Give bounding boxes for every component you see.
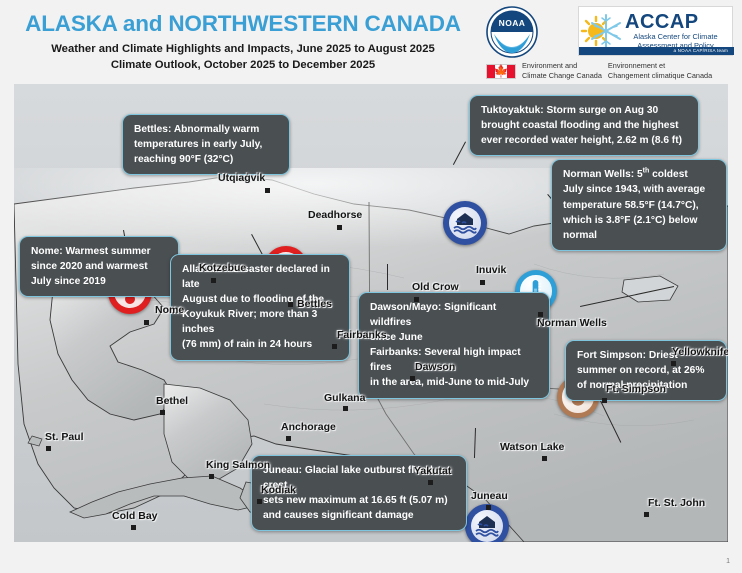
city-dot-icon: [428, 480, 433, 485]
regional-impacts-map: Bettles: Abnormally warm temperatures in…: [14, 84, 728, 542]
callout-line: brought coastal flooding and the highest: [481, 118, 688, 133]
city-label: Deadhorse: [308, 209, 362, 221]
eccc-en-line2: Climate Change Canada: [522, 71, 602, 81]
city-dot-icon: [644, 512, 649, 517]
city-dot-icon: [160, 410, 165, 415]
eccc-fr-line2: Changement climatique Canada: [608, 71, 712, 81]
callout-line: temperatures in early July,: [134, 137, 279, 152]
city-label: Anchorage: [281, 421, 336, 433]
callout-dawson-mayo-fairbanks[interactable]: Dawson/Mayo: Significant wildfires since…: [358, 292, 550, 399]
city-dot-icon: [542, 456, 547, 461]
callout-line: Nome: Warmest summer: [31, 244, 168, 259]
house-flood-icon: [452, 211, 478, 235]
city-dot-icon: [211, 278, 216, 283]
callout-line: summer on record, at 26%: [577, 363, 716, 378]
city-dot-icon: [288, 302, 293, 307]
accap-tagline-line1: Alaska Center for Climate: [625, 32, 732, 41]
city-label: Yakutat: [414, 465, 451, 477]
house-flood-icon: [474, 514, 500, 538]
city-label: Kotzebue: [199, 262, 246, 274]
callout-line: Bettles: Abnormally warm: [134, 122, 279, 137]
city-label: Cold Bay: [112, 510, 158, 522]
noaa-logo-text: NOAA: [499, 18, 526, 28]
callout-line: which is 3.8°F (2.1°C) below: [563, 213, 716, 228]
city-dot-icon: [265, 188, 270, 193]
accap-wordmark: ACCAP: [625, 12, 732, 32]
callout-line: and causes significant damage: [263, 508, 456, 523]
city-dot-icon: [131, 525, 136, 530]
city-label: Nome: [155, 304, 184, 316]
environment-canada-logo: 🍁 Environment and Climate Change Canada …: [486, 60, 734, 82]
city-dot-icon: [602, 398, 607, 403]
callout-line: (76 mm) of rain in 24 hours: [182, 337, 339, 352]
city-dot-icon: [286, 436, 291, 441]
city-label: Kodiak: [261, 484, 296, 496]
city-dot-icon: [343, 406, 348, 411]
callout-line: since 2020 and warmest: [31, 259, 168, 274]
city-label: Juneau: [471, 490, 508, 502]
city-label: Inuvik: [476, 264, 506, 276]
eccc-en-line1: Environment and: [522, 61, 602, 71]
callout-nome[interactable]: Nome: Warmest summer since 2020 and warm…: [19, 236, 179, 297]
city-dot-icon: [257, 499, 262, 504]
eccc-english-text: Environment and Climate Change Canada: [522, 61, 602, 81]
callout-line: reaching 90°F (32°C): [134, 152, 279, 167]
city-label: Norman Wells: [537, 317, 607, 329]
city-dot-icon: [337, 225, 342, 230]
callout-line: since June: [370, 330, 539, 345]
city-label: Yellowknife: [672, 346, 728, 358]
city-dot-icon: [332, 344, 337, 349]
city-label: Old Crow: [412, 281, 459, 293]
callout-tuktoyaktuk[interactable]: Tuktoyaktuk: Storm surge on Aug 30 broug…: [469, 95, 699, 156]
city-label: Ft. Simpson: [606, 383, 666, 395]
accap-text-block: ACCAP Alaska Center for Climate Assessme…: [623, 12, 732, 51]
callout-norman-wells[interactable]: Norman Wells: 5th coldest July since 194…: [551, 159, 727, 251]
city-label: Fairbanks: [337, 329, 387, 341]
callout-line: normal: [563, 228, 716, 243]
city-dot-icon: [144, 320, 149, 325]
city-label: Gulkana: [324, 392, 365, 404]
eccc-french-text: Environnement et Changement climatique C…: [608, 61, 712, 81]
callout-line: in the area, mid-June to mid-July: [370, 375, 539, 390]
city-dot-icon: [209, 474, 214, 479]
city-label: Bethel: [156, 395, 188, 407]
eccc-fr-line1: Environnement et: [608, 61, 712, 71]
city-label: St. Paul: [45, 431, 84, 443]
page-header: ALASKA and NORTHWESTERN CANADA Weather a…: [0, 0, 742, 84]
callout-line: Dawson/Mayo: Significant wildfires: [370, 300, 539, 330]
page-title: ALASKA and NORTHWESTERN CANADA: [18, 12, 468, 36]
city-dot-icon: [46, 446, 51, 451]
noaa-logo: NOAA: [486, 6, 538, 58]
callout-line-text: Norman Wells: 5th coldest: [563, 169, 688, 180]
city-dot-icon: [671, 361, 676, 366]
accap-logo: ACCAP Alaska Center for Climate Assessme…: [578, 6, 733, 56]
city-label: Bettles: [297, 298, 332, 310]
callout-line: temperature 58.5°F (14.7°C),: [563, 198, 716, 213]
canada-flag-icon: 🍁: [486, 64, 516, 79]
leader-line-dawson: [387, 264, 388, 290]
callout-line: Tuktoyaktuk: Storm surge on Aug 30: [481, 103, 688, 118]
city-dot-icon: [480, 280, 485, 285]
city-label: Dawson: [415, 361, 455, 373]
callout-line: July since 2019: [31, 274, 168, 289]
page-subtitle-outlook: Climate Outlook, October 2025 to Decembe…: [18, 57, 468, 73]
city-label: King Salmon: [206, 459, 270, 471]
city-dot-icon: [414, 297, 419, 302]
callout-line: Koyukuk River; more than 3 inches: [182, 307, 339, 337]
callout-bettles[interactable]: Bettles: Abnormally warm temperatures in…: [122, 114, 290, 175]
page-number: 1: [726, 558, 730, 565]
city-label: Watson Lake: [500, 441, 564, 453]
title-block: ALASKA and NORTHWESTERN CANADA Weather a…: [18, 12, 468, 73]
city-label: Ft. St. John: [648, 497, 705, 509]
impact-icon-coastal-flood-tuktoyaktuk[interactable]: [443, 201, 487, 245]
callout-line: July since 1943, with average: [563, 182, 716, 197]
page-subtitle-highlights: Weather and Climate Highlights and Impac…: [18, 41, 468, 57]
city-dot-icon: [410, 376, 415, 381]
city-label: Utqiaġvik: [218, 172, 265, 184]
callout-line: ever recorded water height, 2.62 m (8.6 …: [481, 133, 688, 148]
accap-footer-bar: a NOAA CAP/RISA team: [579, 47, 734, 55]
city-dot-icon: [486, 505, 491, 510]
callout-line: Norman Wells: 5th coldest: [563, 167, 716, 182]
